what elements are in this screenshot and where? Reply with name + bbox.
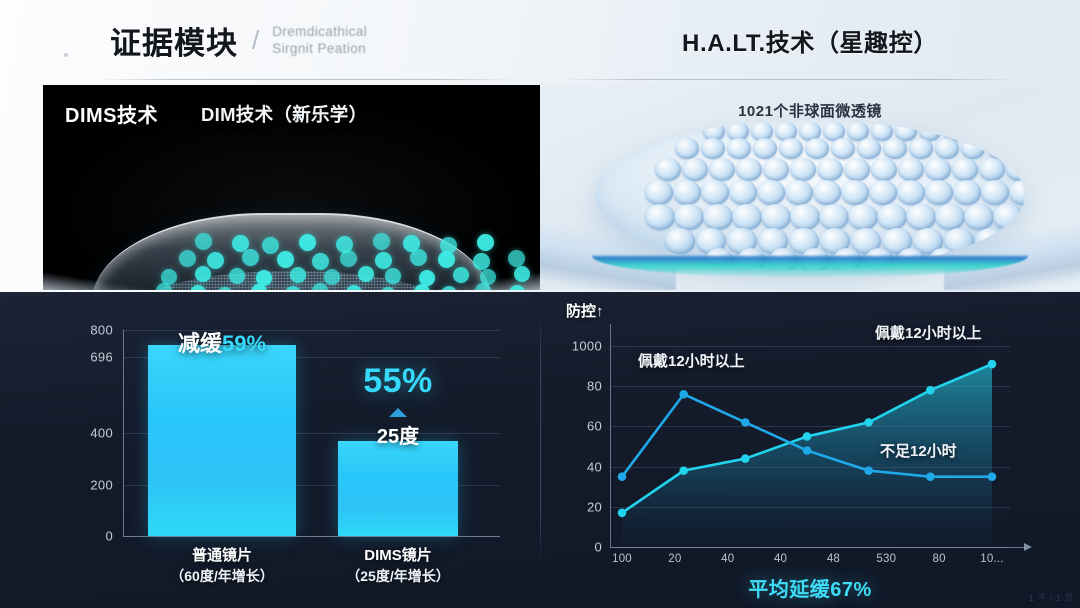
micro-lenslet [953, 180, 981, 205]
series-point [926, 472, 935, 481]
micro-lenslet [732, 204, 762, 230]
lens-dot [229, 268, 245, 284]
series-point [741, 418, 750, 427]
micro-lenslet [763, 158, 789, 181]
category-sublabel: （25度/年增长） [346, 566, 449, 587]
header-left: 证据模块 / Dremdicathical Sirgnit Peation [0, 0, 540, 80]
y-axis-tick: 400 [90, 426, 113, 441]
bar-2 [338, 441, 458, 536]
micro-lenslet [935, 204, 965, 230]
micro-lenslet [981, 180, 1009, 205]
up-triangle-icon [389, 408, 407, 417]
y-axis-tick: 800 [90, 323, 113, 338]
lens-dot [312, 253, 329, 270]
bar1-caption: 减缓59% [178, 326, 266, 358]
series-point [926, 386, 935, 395]
lens-dot [262, 237, 279, 254]
micro-lenslet [848, 204, 878, 230]
micro-lenslet [925, 180, 953, 205]
category-name: 普通镜片 [170, 545, 273, 566]
lens-dot [375, 252, 392, 269]
dims-lens-image: DIMS技术 DIM技术（新乐学） [43, 85, 540, 290]
lens-dot [438, 251, 455, 268]
micro-lenslet [819, 204, 849, 230]
micro-lenslet [805, 138, 829, 159]
y-axis-tick: 200 [90, 478, 113, 493]
lens-dot [179, 250, 196, 267]
charts-dark-area: 8006964002000普通镜片（60度/年增长）DIMS镜片（25度/年增长… [0, 292, 1080, 608]
line-chart: 1000806040200防控↑100204040485308010...佩戴1… [540, 292, 1080, 608]
micro-lenslet [925, 158, 951, 181]
micro-lenslet [701, 180, 729, 205]
series-point [988, 472, 997, 481]
lens-dot [299, 234, 316, 251]
micro-lenslet [964, 204, 994, 230]
bar2-big-value: 55% [363, 362, 433, 401]
page-title: 证据模块 [110, 18, 238, 63]
lens-dot [290, 267, 306, 283]
micro-lenslet [993, 204, 1023, 230]
micro-lenslet [869, 180, 897, 205]
series-point [803, 432, 812, 441]
micro-lenslet [701, 138, 725, 159]
lens-dot [358, 266, 374, 282]
lenslet-caption: 1021个非球面微透镜 [540, 100, 1080, 121]
top-white-band: 证据模块 / Dremdicathical Sirgnit Peation H.… [0, 0, 1080, 292]
header-right-rule [560, 79, 1020, 80]
series-point [864, 418, 873, 427]
lenslet-lens-rim [592, 234, 1028, 278]
lens-dot [508, 250, 525, 267]
header-right-title: H.A.LT.技术（星趣控） [682, 23, 938, 58]
micro-lenslet [817, 158, 843, 181]
micro-lenslet [979, 158, 1005, 181]
micro-lenslet [909, 138, 933, 159]
grid-line [123, 536, 500, 537]
micro-lenslet [857, 138, 881, 159]
micro-lenslet [785, 180, 813, 205]
y-axis-tick: 696 [90, 350, 113, 365]
micro-lenslet [906, 204, 936, 230]
lens-dot [190, 285, 206, 290]
micro-lenslet [729, 180, 757, 205]
category-sublabel: （60度/年增长） [170, 566, 273, 587]
x-axis-category-label: 普通镜片（60度/年增长） [170, 545, 273, 587]
series-point [803, 446, 812, 455]
lens-dot [514, 266, 530, 282]
bar-1 [148, 345, 296, 536]
micro-lenslet [952, 158, 978, 181]
micro-lenslet [883, 138, 907, 159]
watermark: 1 千 / 1 页 [1029, 591, 1074, 604]
micro-lenslet [790, 204, 820, 230]
x-axis-category-label: DIMS镜片（25度/年增长） [346, 545, 449, 587]
micro-lenslet [675, 138, 699, 159]
series-label-under-12h: 不足12小时 [880, 440, 957, 461]
dims-label-primary: DIMS技术 [65, 99, 158, 128]
micro-lenslet [703, 204, 733, 230]
series-point [741, 454, 750, 463]
micro-lenslet [645, 180, 673, 205]
lens-dot [285, 286, 301, 290]
series-label-worn-12h-right: 佩戴12小时以上 [875, 322, 982, 343]
micro-lenslet [831, 138, 855, 159]
slide-root: 证据模块 / Dremdicathical Sirgnit Peation H.… [0, 0, 1080, 608]
lens-dot [410, 249, 427, 266]
micro-lenslet [761, 204, 791, 230]
lens-dot [195, 266, 211, 282]
micro-lenslet [813, 180, 841, 205]
series-point [679, 390, 688, 399]
series-label-worn-12h-left: 佩戴12小时以上 [638, 350, 745, 371]
series-point [618, 472, 627, 481]
micro-lenslet [682, 158, 708, 181]
series-point [618, 509, 627, 518]
line-series-svg [540, 292, 1080, 608]
lens-dot [441, 286, 457, 290]
page-subtitle-line1: Dremdicathical [272, 24, 367, 39]
lens-dot [195, 233, 212, 250]
lens-dot [207, 252, 224, 269]
micro-lenslet [753, 138, 777, 159]
micro-lenslet [841, 180, 869, 205]
page-subtitle: Dremdicathical Sirgnit Peation [272, 23, 367, 57]
header-left-rule [96, 79, 516, 80]
micro-lenslet [655, 158, 681, 181]
micro-lenslet [987, 138, 1011, 159]
micro-lenslet [736, 158, 762, 181]
micro-lenslet [757, 180, 785, 205]
micro-lenslet [1009, 180, 1025, 205]
lens-dot [242, 249, 259, 266]
micro-lenslet [871, 158, 897, 181]
micro-lenslet [877, 204, 907, 230]
micro-lenslet [673, 180, 701, 205]
micro-lenslet [779, 138, 803, 159]
lens-dot [340, 250, 357, 267]
series-point [988, 360, 997, 369]
category-name: DIMS镜片 [346, 545, 449, 566]
header-right: H.A.LT.技术（星趣控） [540, 0, 1080, 80]
micro-lenslet [1006, 158, 1025, 181]
micro-lenslet [844, 158, 870, 181]
series-point [864, 466, 873, 475]
bar1-caption-prefix: 减缓 [178, 331, 222, 356]
lens-dot [473, 253, 490, 270]
bar1-caption-value: 59% [222, 331, 266, 356]
lens-dot [324, 269, 340, 285]
average-delay-caption: 平均延缓67% [748, 573, 872, 602]
title-separator: / [252, 25, 259, 56]
lens-dot [453, 267, 469, 283]
lens-dot [385, 268, 401, 284]
micro-lenslet [727, 138, 751, 159]
micro-lenslet [790, 158, 816, 181]
micro-lenslet [674, 204, 704, 230]
micro-lenslet [935, 138, 959, 159]
lens-dot [477, 234, 494, 251]
dims-label-secondary: DIM技术（新乐学） [201, 101, 367, 127]
micro-lenslet [645, 204, 675, 230]
lens-dot [509, 285, 525, 290]
micro-lenslet [961, 138, 985, 159]
series-point [679, 466, 688, 475]
lens-dot [373, 233, 390, 250]
y-axis-line [123, 330, 124, 536]
lens-dot [346, 285, 362, 290]
lens-dot [312, 283, 328, 290]
y-axis-tick: 0 [105, 529, 113, 544]
lens-dot [380, 287, 396, 290]
bar-chart: 8006964002000普通镜片（60度/年增长）DIMS镜片（25度/年增长… [0, 292, 540, 608]
bar2-degree-label: 25度 [377, 420, 419, 449]
lens-dot [217, 287, 233, 290]
micro-lenslet [898, 158, 924, 181]
micro-lenslet [709, 158, 735, 181]
lens-dot [277, 251, 294, 268]
halt-lens-image: 1021个非球面微透镜 [540, 82, 1080, 290]
micro-lenslet [897, 180, 925, 205]
page-subtitle-line2: Sirgnit Peation [272, 41, 366, 56]
